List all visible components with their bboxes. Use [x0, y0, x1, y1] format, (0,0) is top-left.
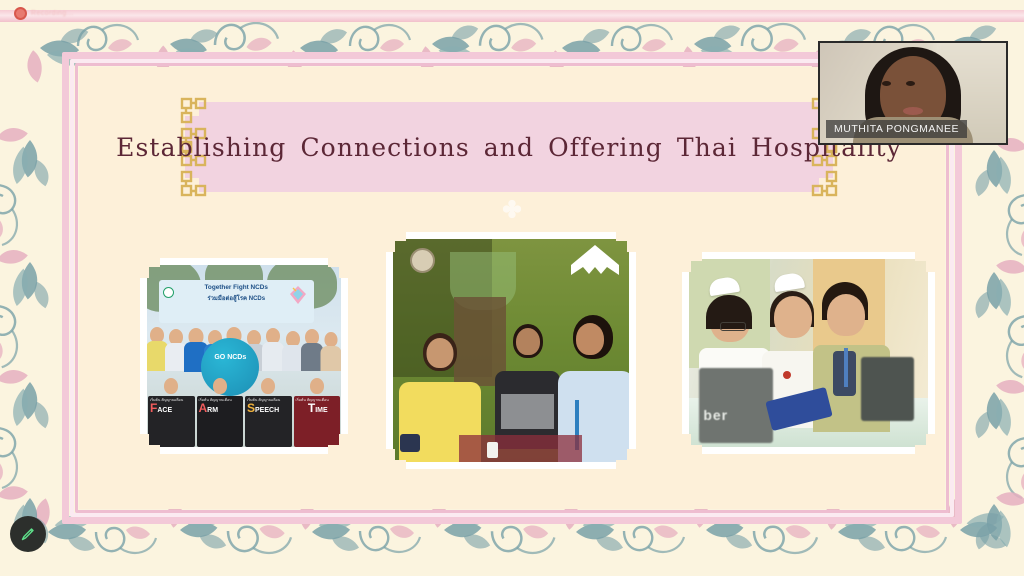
photo-1-sign-arm: เริ่มต้น สัญญาณเตือน ARM [197, 396, 244, 447]
slide-title: Establishing Connections and Offering Th… [185, 102, 833, 192]
photo-2-family-member [492, 324, 563, 449]
photo-2-table [459, 435, 582, 462]
photo-2-content [393, 239, 629, 462]
photo-1-sign-speech: เริ่มต้น สัญญาณเตือน SPEECH [245, 396, 292, 447]
slide-title-banner: Establishing Connections and Offering Th… [185, 102, 833, 192]
photo-1-sign-holder: เริ่มต้น สัญญาณเตือน ARM [196, 378, 245, 447]
flower-ornament-icon [501, 198, 523, 220]
top-progress-bar [0, 10, 1024, 22]
ncd-campaign-group-photo: Together Fight NCDs ร่วมมือต่อสู้โรค NCD… [140, 258, 348, 454]
photo-1-front-row-signs: เริ่มต้น สัญญาณเตือน FACE เริ่มต้น สัญญา… [147, 378, 341, 447]
photo-2-bottle [487, 442, 498, 458]
photo-1-sign-holder: เริ่มต้น สัญญาณเตือน TIME [293, 378, 342, 447]
annotate-button[interactable] [10, 516, 46, 552]
photo-1-sign-holder: เริ่มต้น สัญญาณเตือน SPEECH [244, 378, 293, 447]
photo-1-kite-graphic-icon [287, 285, 309, 305]
photo-3-content: ber [689, 259, 928, 447]
photo-2-wall-clock [410, 248, 435, 273]
photo-1-sign-face: เริ่มต้น สัญญาณเตือน FACE [148, 396, 195, 447]
recording-label: Recording... [31, 10, 74, 17]
pencil-annotate-icon [19, 525, 37, 543]
recording-indicator[interactable]: Recording... [14, 7, 74, 20]
photo-3-nurse-cap [708, 276, 740, 296]
nurses-at-workstation-photo: ber [682, 252, 935, 454]
photo-2-shirt-stripe [501, 394, 555, 429]
photo-1-sign-holder: เริ่มต้น สัญญาณเตือน FACE [147, 378, 196, 447]
photo-2-bp-cuff [400, 434, 420, 452]
home-visit-blood-pressure-photo [386, 232, 636, 469]
participant-eye-left [882, 81, 891, 86]
photo-1-sign-time: เริ่มต้น สัญญาณเตือน TIME [294, 396, 341, 447]
photo-3-lanyard [844, 348, 848, 387]
photo-3-monitor-text: ber [703, 407, 728, 423]
photo-1-ncd-banner: Together Fight NCDs ร่วมมือต่อสู้โรค NCD… [159, 280, 314, 324]
photo-1-content: Together Fight NCDs ร่วมมือต่อสู้โรค NCD… [147, 265, 341, 447]
record-icon [14, 7, 27, 20]
participant-name-label: MUTHITA PONGMANEE [826, 120, 967, 138]
photo-2-white-chevron-overlay-icon [569, 243, 621, 277]
participant-eye-right [906, 81, 915, 86]
photo-3-nurse-cap [773, 272, 805, 292]
participant-video-tile[interactable]: MUTHITA PONGMANEE [818, 41, 1008, 145]
photo-1-health-logo-icon [163, 287, 174, 298]
participant-mouth [903, 107, 923, 115]
photo-3-glasses-icon [720, 322, 746, 331]
photo-3-monitor-right [861, 357, 914, 421]
